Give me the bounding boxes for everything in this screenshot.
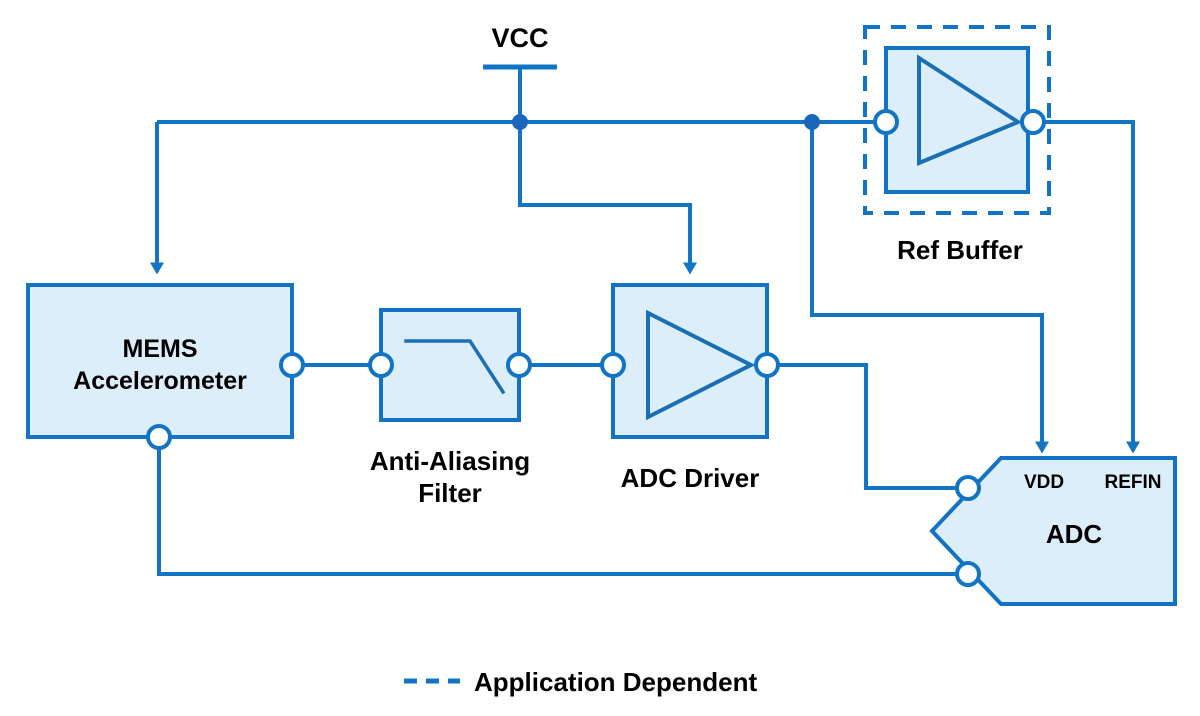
filter-label-line2: Filter [418, 478, 482, 508]
wire-refbuffer-to-refin [1033, 122, 1133, 443]
mems-terminal-bottom[interactable] [148, 426, 170, 448]
filter-block-body [381, 310, 519, 420]
ref-buffer-label: Ref Buffer [897, 235, 1023, 265]
adc-pin-label-vdd: VDD [1024, 472, 1064, 493]
wire-vcc-to-adc-driver [520, 122, 690, 264]
mems-label-line2: Accelerometer [73, 367, 247, 395]
adc-terminal-in-negative[interactable] [957, 563, 979, 585]
adc-label: ADC [1046, 519, 1103, 549]
mems-terminal-out[interactable] [281, 354, 303, 376]
adc-driver-terminal-out[interactable] [756, 354, 778, 376]
wire-driver-to-adc-in-positive [767, 365, 968, 488]
adc-terminal-in-positive[interactable] [957, 477, 979, 499]
legend-label: Application Dependent [474, 667, 757, 697]
adc-pin-label-refin: REFIN [1105, 472, 1162, 493]
block-adc-driver[interactable]: ADC Driver [602, 285, 778, 493]
ref-buffer-block-body [886, 48, 1028, 192]
vcc-label: VCC [491, 23, 548, 53]
ref-buffer-terminal-in[interactable] [875, 111, 897, 133]
ref-buffer-terminal-out[interactable] [1022, 111, 1044, 133]
junction-dot-vcc-ref [804, 114, 820, 130]
diagram-svg: MEMS Accelerometer Anti-Aliasing Filter … [0, 0, 1200, 716]
filter-label-line1: Anti-Aliasing [370, 446, 530, 476]
filter-terminal-out[interactable] [508, 354, 530, 376]
mems-label-line1: MEMS [123, 335, 198, 363]
adc-driver-terminal-in[interactable] [602, 354, 624, 376]
block-diagram-canvas: MEMS Accelerometer Anti-Aliasing Filter … [0, 0, 1200, 716]
block-adc[interactable]: VDD REFIN ADC [932, 458, 1175, 604]
filter-terminal-in[interactable] [370, 354, 392, 376]
block-anti-aliasing-filter[interactable]: Anti-Aliasing Filter [370, 310, 530, 508]
junction-dot-vcc-main [512, 114, 528, 130]
block-ref-buffer[interactable]: Ref Buffer [865, 27, 1049, 265]
block-mems-accelerometer[interactable]: MEMS Accelerometer [28, 285, 303, 448]
legend: Application Dependent [404, 667, 757, 697]
wire-mems-to-adc-in-negative [159, 437, 968, 574]
adc-driver-label: ADC Driver [621, 463, 760, 493]
